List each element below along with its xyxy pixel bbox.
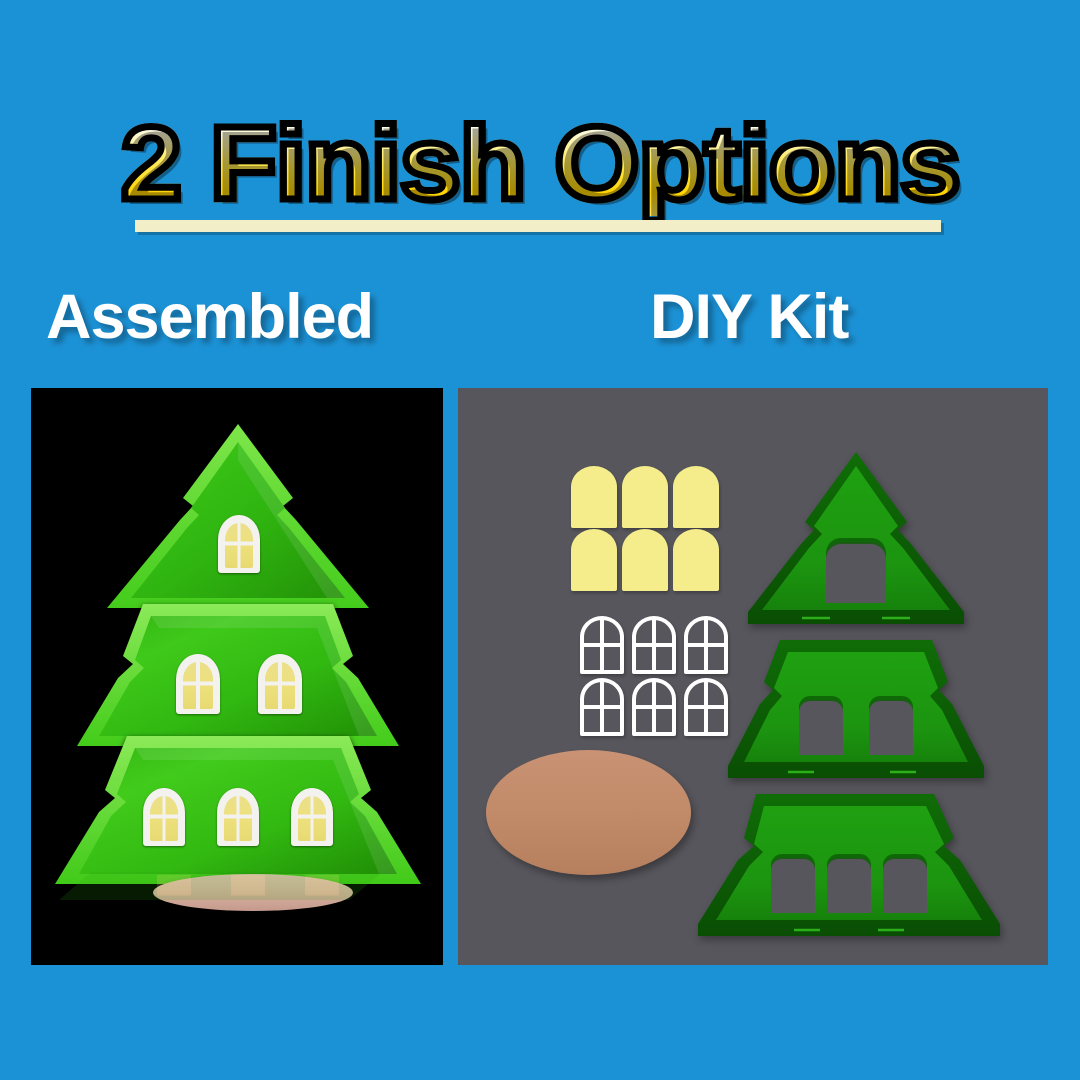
- diy-kit-panel: [458, 388, 1048, 965]
- kit-window-frame: [632, 616, 676, 674]
- option-label-diy-kit: DIY Kit: [650, 281, 848, 353]
- assembled-window-middle-1: [176, 654, 220, 714]
- assembled-window-middle-2: [258, 654, 302, 714]
- option-label-assembled: Assembled: [46, 281, 373, 353]
- kit-yellow-pane: [673, 466, 719, 528]
- headline-block: 2 Finish Options: [0, 112, 1080, 216]
- assembled-product-panel: [31, 388, 443, 965]
- kit-tier-top: [740, 450, 972, 630]
- kit-tier-bottom: [690, 792, 1008, 942]
- assembled-window-bottom-3: [291, 788, 333, 846]
- assembled-tier-middle: [67, 600, 409, 752]
- kit-yellow-pane: [571, 529, 617, 591]
- page-title: 2 Finish Options: [121, 112, 960, 216]
- kit-yellow-pane: [571, 466, 617, 528]
- kit-yellow-pane: [622, 466, 668, 528]
- kit-yellow-pane: [673, 529, 719, 591]
- assembled-tree-illustration: [31, 388, 443, 965]
- kit-window-frame: [580, 678, 624, 736]
- title-underline: [135, 220, 941, 232]
- kit-yellow-pane: [622, 529, 668, 591]
- kit-window-frame: [632, 678, 676, 736]
- kit-base-plate: [486, 750, 691, 875]
- assembled-reflection: [31, 871, 443, 900]
- assembled-window-bottom-2: [217, 788, 259, 846]
- kit-window-frame: [580, 616, 624, 674]
- assembled-window-top: [218, 515, 260, 573]
- assembled-window-bottom-1: [143, 788, 185, 846]
- kit-tier-middle: [720, 638, 992, 784]
